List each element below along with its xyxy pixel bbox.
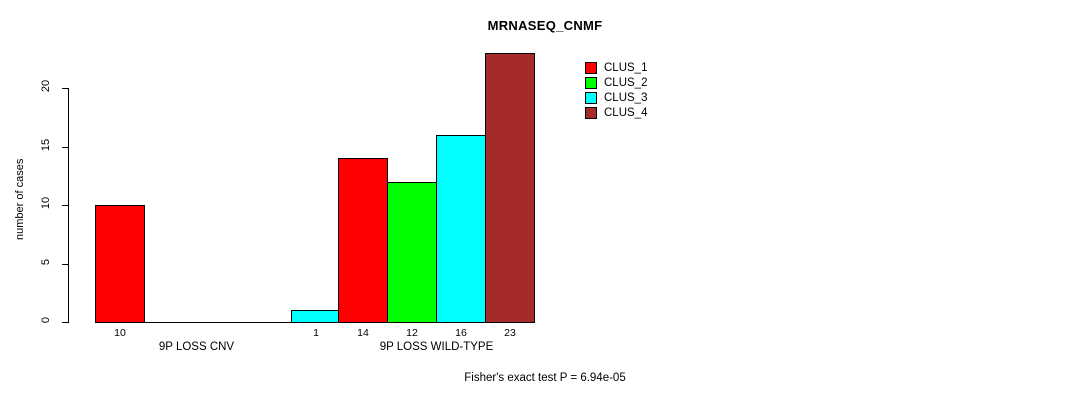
y-axis-tick xyxy=(62,205,69,206)
legend-item: CLUS_2 xyxy=(585,75,647,90)
legend-item: CLUS_1 xyxy=(585,60,647,75)
bar xyxy=(485,53,535,323)
y-axis-tick-label: 15 xyxy=(40,135,52,155)
legend-item-label: CLUS_1 xyxy=(604,62,647,74)
legend-item: CLUS_3 xyxy=(585,90,647,105)
fisher-test-annotation: Fisher's exact test P = 6.94e-05 xyxy=(0,372,1090,384)
bar-value-label: 16 xyxy=(436,327,486,339)
legend-item-label: CLUS_2 xyxy=(604,77,647,89)
y-axis-tick xyxy=(62,147,69,148)
y-axis-tick-label: 20 xyxy=(40,76,52,96)
y-axis-tick-label: 5 xyxy=(40,252,52,272)
y-axis-tick xyxy=(62,264,69,265)
legend-item: CLUS_4 xyxy=(585,105,647,120)
y-axis-tick-label: 10 xyxy=(40,193,52,213)
legend-swatch-icon xyxy=(585,77,597,89)
bar-value-label: 23 xyxy=(485,327,535,339)
bar xyxy=(387,182,437,323)
bar-value-label: 10 xyxy=(95,327,145,339)
y-axis-tick xyxy=(62,322,69,323)
y-axis-tick xyxy=(62,88,69,89)
legend-item-label: CLUS_3 xyxy=(604,92,647,104)
bar xyxy=(338,158,388,323)
x-axis-group-label: 9P LOSS WILD-TYPE xyxy=(287,341,587,353)
y-axis-label: number of cases xyxy=(14,159,26,240)
bar xyxy=(291,310,341,323)
legend: CLUS_1 CLUS_2 CLUS_3 CLUS_4 xyxy=(585,60,647,120)
bar-value-label: 12 xyxy=(387,327,437,339)
bar-chart-figure: MRNASEQ_CNMF number of cases 05101520 10… xyxy=(0,0,1090,400)
bar-value-label: 1 xyxy=(291,327,341,339)
legend-swatch-icon xyxy=(585,62,597,74)
chart-title: MRNASEQ_CNMF xyxy=(0,18,1090,33)
bar xyxy=(436,135,486,323)
legend-swatch-icon xyxy=(585,92,597,104)
legend-swatch-icon xyxy=(585,107,597,119)
bar xyxy=(95,205,145,323)
legend-item-label: CLUS_4 xyxy=(604,107,647,119)
y-axis-tick-label: 0 xyxy=(40,310,52,330)
bar-value-label: 14 xyxy=(338,327,388,339)
